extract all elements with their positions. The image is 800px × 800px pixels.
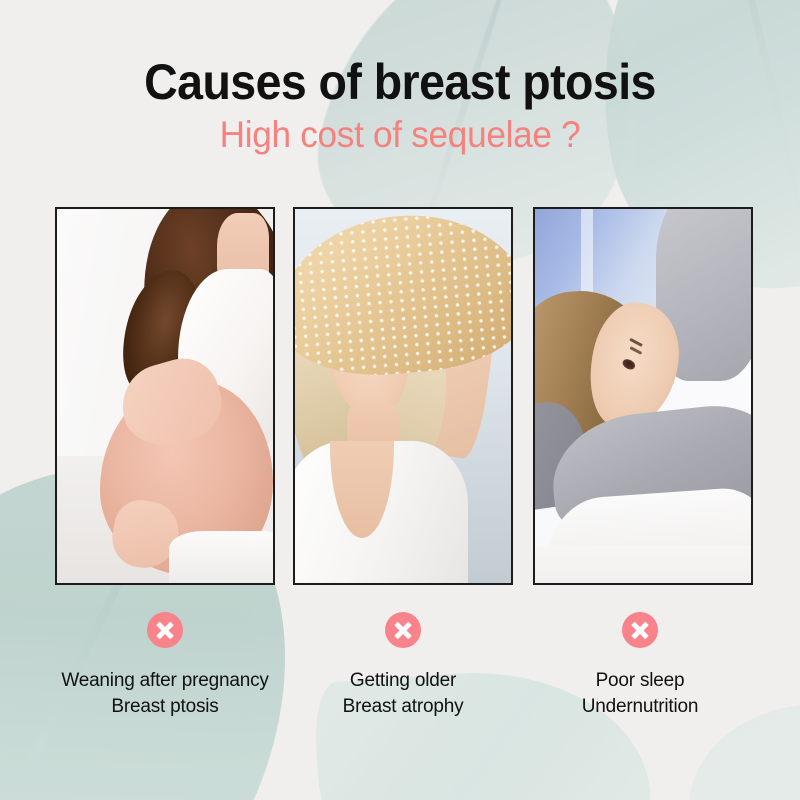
caption-aging: Getting older Breast atrophy <box>270 612 536 720</box>
caption-line-1: Poor sleep <box>507 668 773 694</box>
photo-bed-sheet <box>535 546 751 583</box>
page-subtitle: High cost of sequelae ? <box>20 116 780 155</box>
photo-open-mouth <box>621 357 637 371</box>
caption-text: Poor sleep Undernutrition <box>507 668 773 720</box>
photo-panel-aging <box>293 207 513 585</box>
caption-weaning: Weaning after pregnancy Breast ptosis <box>32 612 298 720</box>
caption-line-1: Weaning after pregnancy <box>32 668 298 694</box>
caption-text: Getting older Breast atrophy <box>270 668 536 720</box>
photo-panel-weaning <box>55 207 275 585</box>
heading-block: Causes of breast ptosis High cost of seq… <box>0 56 800 155</box>
photo-panel-sleep <box>533 207 753 585</box>
photo-pregnant-woman <box>57 209 273 583</box>
caption-row: Weaning after pregnancy Breast ptosis Ge… <box>0 612 800 742</box>
photo-older-woman <box>295 209 511 583</box>
caption-text: Weaning after pregnancy Breast ptosis <box>32 668 298 720</box>
x-mark-icon <box>385 612 421 648</box>
x-mark-icon <box>147 612 183 648</box>
poster-canvas: Causes of breast ptosis High cost of seq… <box>0 0 800 800</box>
caption-line-2: Breast atrophy <box>270 694 536 720</box>
caption-line-2: Undernutrition <box>507 694 773 720</box>
photo-white-pants <box>169 531 273 583</box>
photo-panel-row <box>55 207 753 585</box>
photo-eyebrow <box>629 337 643 346</box>
photo-sleeping-woman <box>535 209 751 583</box>
caption-sleep: Poor sleep Undernutrition <box>507 612 773 720</box>
caption-line-2: Breast ptosis <box>32 694 298 720</box>
caption-line-1: Getting older <box>270 668 536 694</box>
x-mark-icon <box>622 612 658 648</box>
page-title: Causes of breast ptosis <box>28 56 772 108</box>
